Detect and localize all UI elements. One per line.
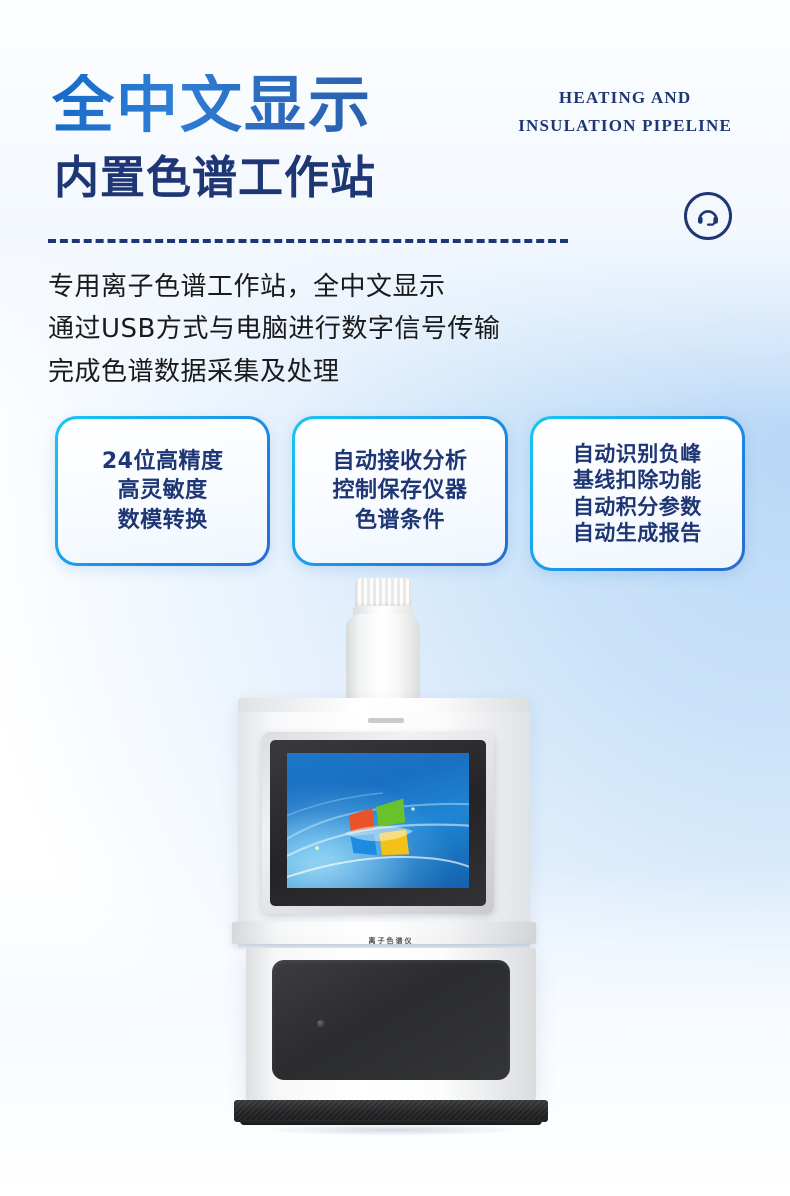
english-subtitle-line1: HEATING AND <box>518 84 732 112</box>
feature-card-acquisition-line-2: 控制保存仪器 <box>332 476 467 505</box>
page-title: 全中文显示 <box>52 74 372 136</box>
feature-card-analysis[interactable]: 自动识别负峰 基线扣除功能 自动积分参数 自动生成报告 <box>530 416 745 571</box>
feature-card-precision-line-1: 24位高精度 <box>102 447 224 476</box>
instrument-brand-label: 离子色谱仪 <box>246 936 536 946</box>
feature-card-acquisition-body: 自动接收分析 控制保存仪器 色谱条件 <box>295 419 504 563</box>
instrument-base-foot <box>234 1100 548 1122</box>
feature-card-analysis-line-4: 自动生成报告 <box>573 520 702 546</box>
feature-card-analysis-line-3: 自动积分参数 <box>573 494 702 520</box>
description-block: 专用离子色谱工作站，全中文显示 通过USB方式与电脑进行数字信号传输 完成色谱数… <box>48 266 500 393</box>
feature-card-precision-line-2: 高灵敏度 <box>118 476 208 505</box>
feature-card-acquisition-line-3: 色谱条件 <box>355 506 445 535</box>
description-line-2: 通过USB方式与电脑进行数字信号传输 <box>48 308 500 350</box>
feature-card-list: 24位高精度 高灵敏度 数模转换 自动接收分析 控制保存仪器 色谱条件 自动识别… <box>55 416 745 566</box>
upper-cabinet-top-lip <box>238 698 530 712</box>
support-badge[interactable] <box>684 192 732 240</box>
feature-card-precision-body: 24位高精度 高灵敏度 数模转换 <box>58 419 267 563</box>
feature-card-precision-line-3: 数模转换 <box>118 506 208 535</box>
cabinet-vent-slot <box>368 718 404 723</box>
description-line-1: 专用离子色谱工作站，全中文显示 <box>48 266 500 308</box>
eluent-bottle <box>344 578 422 698</box>
door-knob-icon <box>317 1020 325 1028</box>
feature-card-analysis-line-2: 基线扣除功能 <box>573 467 702 493</box>
eluent-bottle-body <box>346 614 420 700</box>
english-subtitle: HEATING AND INSULATION PIPELINE <box>518 84 732 140</box>
feature-card-analysis-line-1: 自动识别负峰 <box>573 441 702 467</box>
english-subtitle-line2: INSULATION PIPELINE <box>518 112 732 140</box>
feature-card-precision[interactable]: 24位高精度 高灵敏度 数模转换 <box>55 416 270 566</box>
feature-card-acquisition-line-1: 自动接收分析 <box>332 447 467 476</box>
floor-shadow <box>214 1122 570 1138</box>
dashed-divider <box>48 239 568 243</box>
description-line-3: 完成色谱数据采集及处理 <box>48 351 500 393</box>
headset-icon <box>695 203 721 229</box>
header: 全中文显示 内置色谱工作站 HEATING AND INSULATION PIP… <box>0 0 790 250</box>
product-illustration: 离子色谱仪 <box>0 560 790 1180</box>
feature-card-acquisition[interactable]: 自动接收分析 控制保存仪器 色谱条件 <box>292 416 507 566</box>
feature-card-analysis-body: 自动识别负峰 基线扣除功能 自动积分参数 自动生成报告 <box>533 419 742 568</box>
windows-7-wallpaper <box>287 753 469 888</box>
monitor-screen[interactable] <box>287 753 469 888</box>
page-subtitle: 内置色谱工作站 <box>54 155 376 200</box>
front-access-door[interactable] <box>272 960 510 1080</box>
eluent-bottle-cap <box>355 578 411 608</box>
